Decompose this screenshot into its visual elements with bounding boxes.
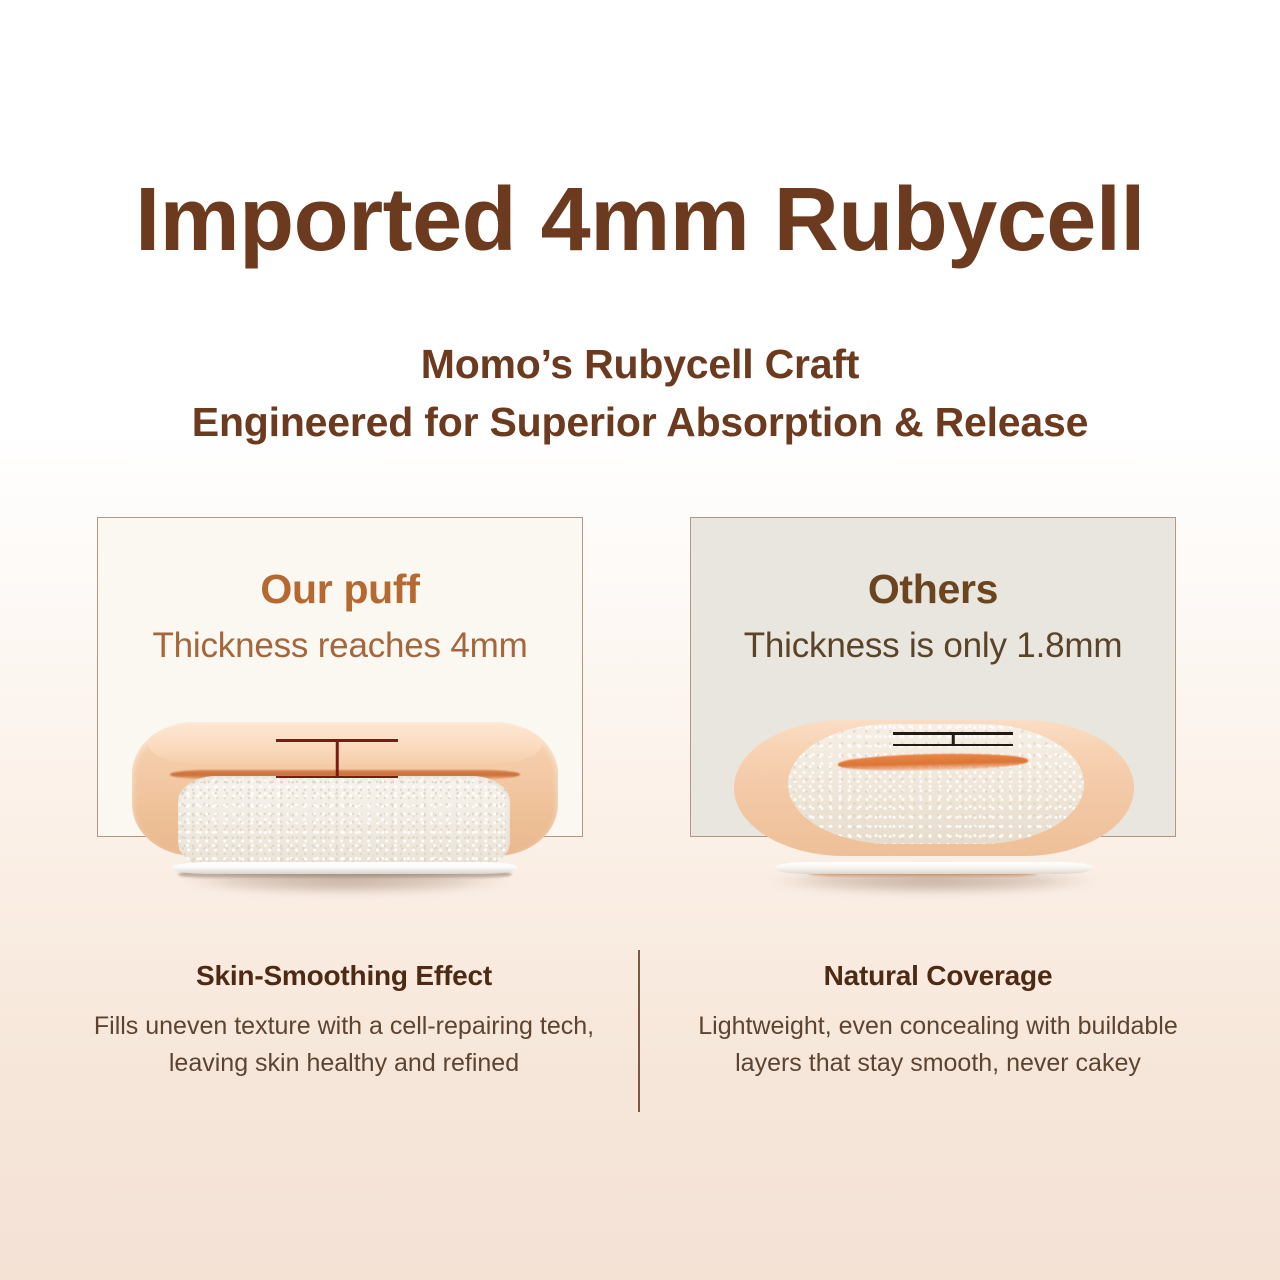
panel-subtext-others: Thickness is only 1.8mm [691, 626, 1175, 666]
bracket-bottom-line [276, 776, 398, 779]
feature-title: Skin-Smoothing Effect [74, 960, 614, 992]
infographic-page: Imported 4mm Rubycell Momo’s Rubycell Cr… [0, 0, 1280, 1280]
feature-description-line-2: leaving skin healthy and refined [74, 1045, 614, 1082]
header-title-block: Imported 4mm Rubycell [0, 175, 1280, 265]
bracket-bottom-line [893, 744, 1013, 747]
feature-skin-smoothing: Skin-Smoothing Effect Fills uneven textu… [74, 960, 614, 1082]
panel-heading-our-puff: Our puff [98, 566, 582, 613]
feature-description: Lightweight, even concealing with builda… [668, 1008, 1208, 1082]
puff-base-shadow [178, 871, 512, 878]
header-subtitle-block: Momo’s Rubycell Craft Engineered for Sup… [0, 335, 1280, 451]
puff-shadow [770, 868, 1097, 894]
subtitle-line-2: Engineered for Superior Absorption & Rel… [0, 393, 1280, 451]
feature-description-line-1: Fills uneven texture with a cell-repairi… [74, 1008, 614, 1045]
feature-description-line-2: layers that stay smooth, never cakey [668, 1045, 1208, 1082]
puff-base-edge [774, 862, 1094, 874]
thickness-bracket-thick [276, 739, 398, 778]
subtitle-line-1: Momo’s Rubycell Craft [0, 335, 1280, 393]
puff-base-shadow [808, 870, 1038, 876]
panel-heading-others: Others [691, 566, 1175, 613]
comparison-panel-our-puff: Our puff Thickness reaches 4mm [97, 517, 583, 837]
features-section: Skin-Smoothing Effect Fills uneven textu… [0, 960, 1280, 1130]
puff-base-edge [172, 862, 518, 874]
page-title: Imported 4mm Rubycell [0, 175, 1280, 265]
feature-natural-coverage: Natural Coverage Lightweight, even conce… [668, 960, 1208, 1082]
panel-subtext-our-puff: Thickness reaches 4mm [98, 626, 582, 666]
feature-description-line-1: Lightweight, even concealing with builda… [668, 1008, 1208, 1045]
puff-shadow [182, 868, 509, 894]
bracket-vertical-line [336, 739, 339, 778]
feature-title: Natural Coverage [668, 960, 1208, 992]
comparison-panel-others: Others Thickness is only 1.8mm [690, 517, 1176, 837]
feature-description: Fills uneven texture with a cell-repairi… [74, 1008, 614, 1082]
thickness-bracket-thin [893, 732, 1013, 746]
